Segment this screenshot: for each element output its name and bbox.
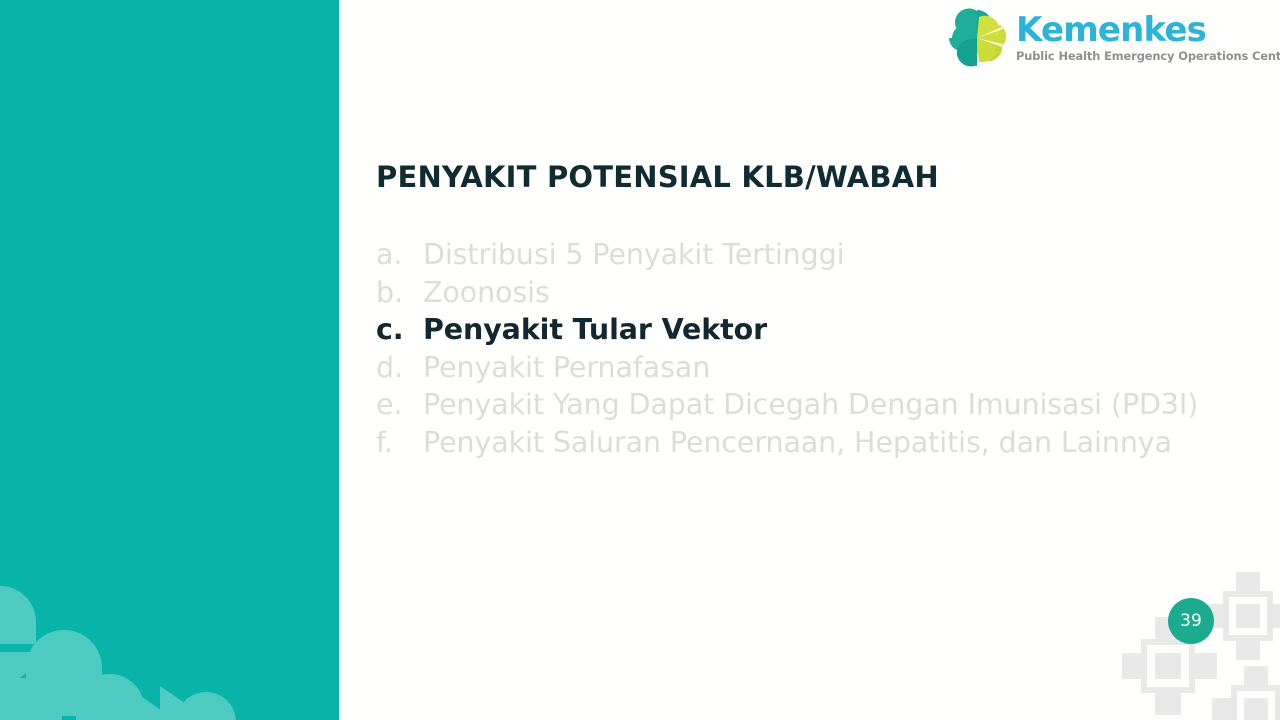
left-accent-panel bbox=[0, 0, 339, 720]
list-item-marker: a. bbox=[376, 236, 423, 274]
kemenkes-logo-text: Kemenkes Public Health Emergency Operati… bbox=[1016, 13, 1280, 62]
list-item-label: Zoonosis bbox=[423, 274, 1206, 312]
list-item-label: Penyakit Saluran Pencernaan, Hepatitis, … bbox=[423, 424, 1206, 462]
slide-canvas: Kemenkes Public Health Emergency Operati… bbox=[0, 0, 1280, 720]
list-item[interactable]: b. Zoonosis bbox=[376, 274, 1206, 312]
list-item-marker: f. bbox=[376, 424, 423, 462]
list-item-marker: e. bbox=[376, 386, 423, 424]
list-item-marker: b. bbox=[376, 274, 423, 312]
list-item-label: Penyakit Pernafasan bbox=[423, 349, 1206, 387]
kemenkes-tagline: Public Health Emergency Operations Cente… bbox=[1016, 51, 1280, 62]
page-number-area: 39 bbox=[1110, 560, 1280, 720]
decorative-shapes bbox=[0, 526, 339, 720]
list-item-label: Penyakit Tular Vektor bbox=[423, 311, 1206, 349]
kemenkes-logo: Kemenkes Public Health Emergency Operati… bbox=[944, 4, 1276, 72]
list-item-marker: d. bbox=[376, 349, 423, 387]
page-number-badge: 39 bbox=[1168, 598, 1214, 644]
list-item[interactable]: a. Distribusi 5 Penyakit Tertinggi bbox=[376, 236, 1206, 274]
list-item[interactable]: e. Penyakit Yang Dapat Dicegah Dengan Im… bbox=[376, 386, 1206, 424]
list-item[interactable]: d. Penyakit Pernafasan bbox=[376, 349, 1206, 387]
page-title: PENYAKIT POTENSIAL KLB/WABAH bbox=[376, 160, 939, 194]
list-item-marker: c. bbox=[376, 311, 423, 349]
outline-list: a. Distribusi 5 Penyakit Tertinggi b. Zo… bbox=[376, 236, 1206, 461]
list-item[interactable]: f. Penyakit Saluran Pencernaan, Hepatiti… bbox=[376, 424, 1206, 462]
list-item-active[interactable]: c. Penyakit Tular Vektor bbox=[376, 311, 1206, 349]
list-item-label: Distribusi 5 Penyakit Tertinggi bbox=[423, 236, 1206, 274]
kemenkes-wordmark: Kemenkes bbox=[1016, 13, 1280, 48]
kemenkes-flower-icon bbox=[944, 7, 1010, 69]
list-item-label: Penyakit Yang Dapat Dicegah Dengan Imuni… bbox=[423, 386, 1206, 424]
batik-pattern-icon bbox=[1122, 570, 1280, 720]
